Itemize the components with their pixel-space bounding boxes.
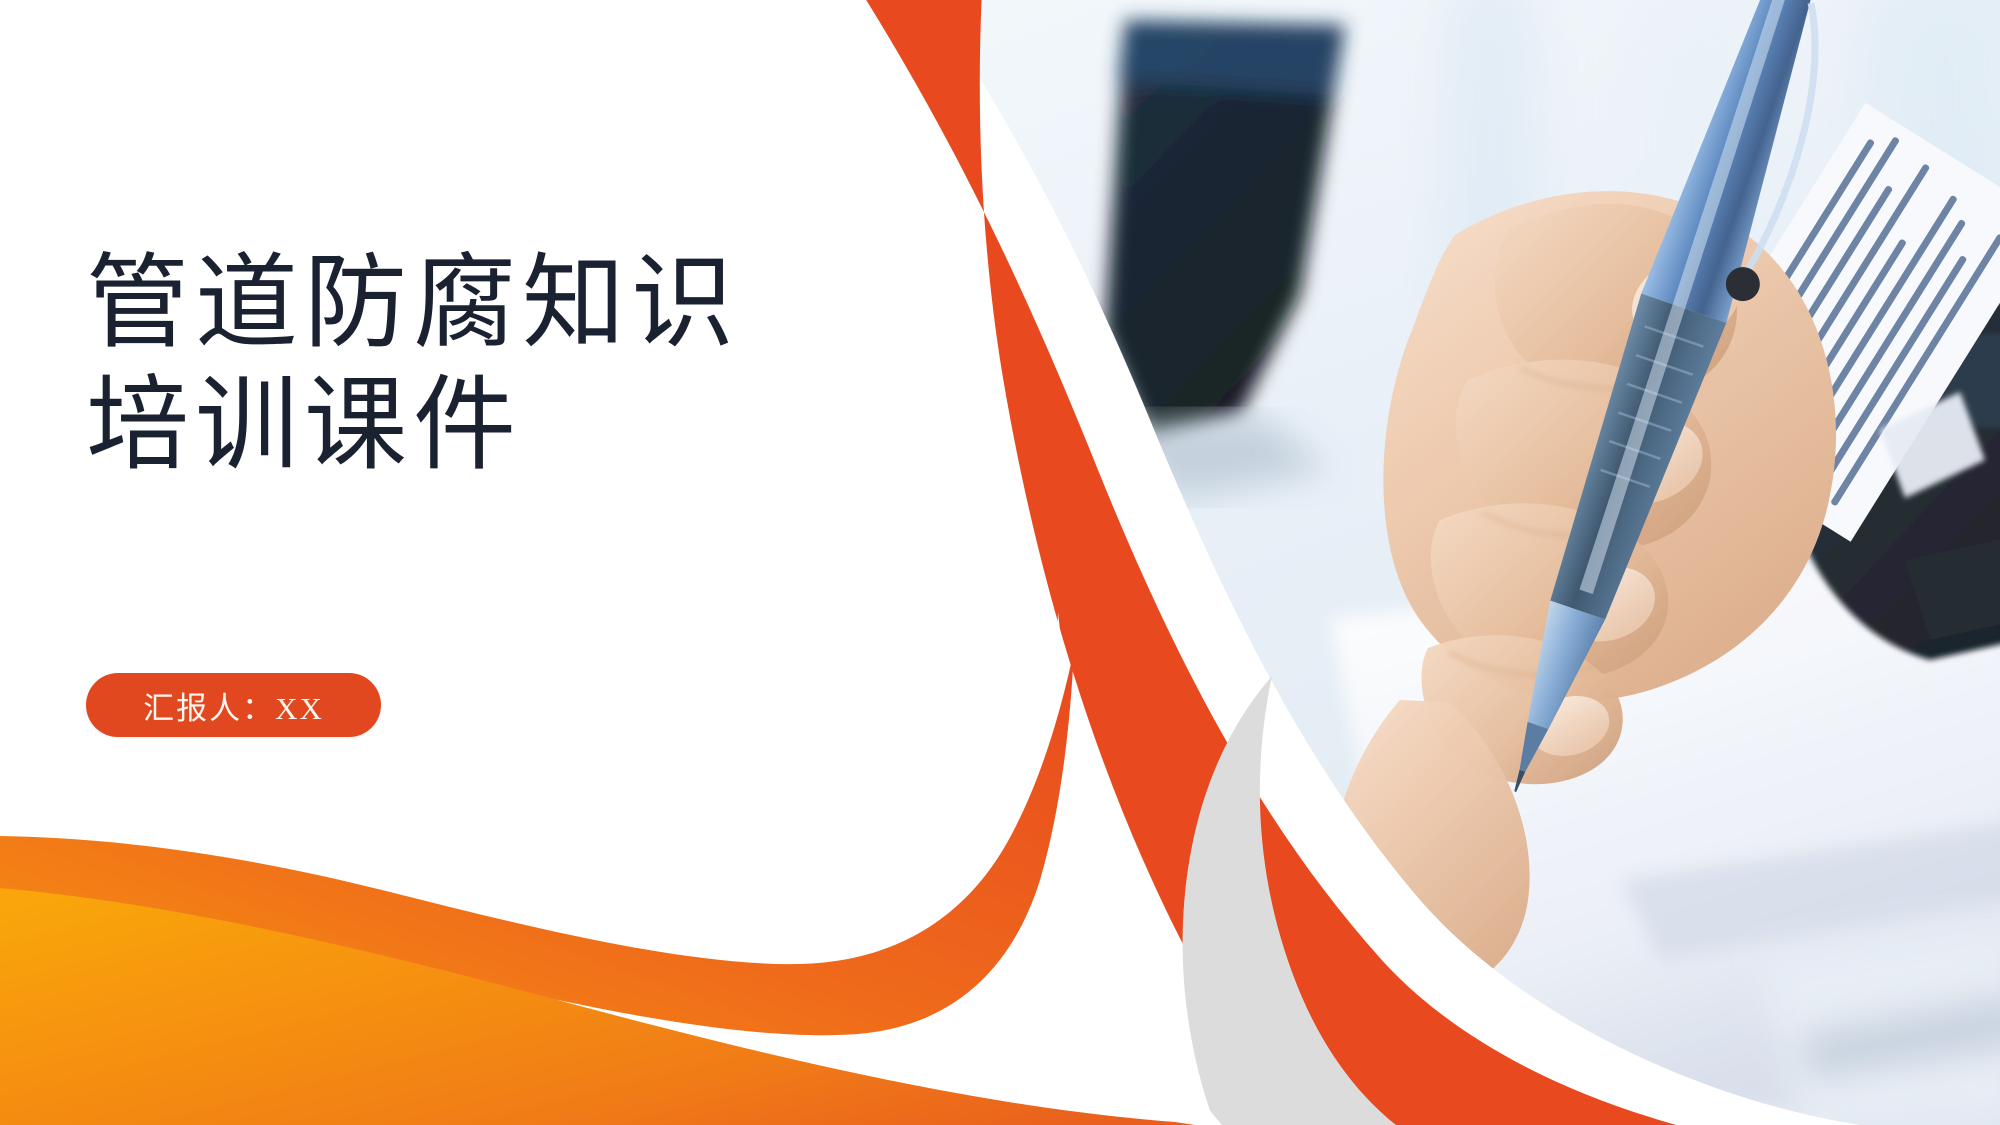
presenter-badge-label: 汇报人：XX (143, 683, 324, 728)
title-content: 管道防腐知识 培训课件 汇报人：XX (0, 0, 1000, 1125)
title-slide: 管道防腐知识 培训课件 汇报人：XX (0, 0, 2000, 1125)
title-line-1: 管道防腐知识 (86, 244, 786, 366)
slide-title: 管道防腐知识 培训课件 (86, 244, 786, 487)
title-line-2: 培训课件 (86, 366, 786, 488)
presenter-badge[interactable]: 汇报人：XX (86, 673, 381, 737)
